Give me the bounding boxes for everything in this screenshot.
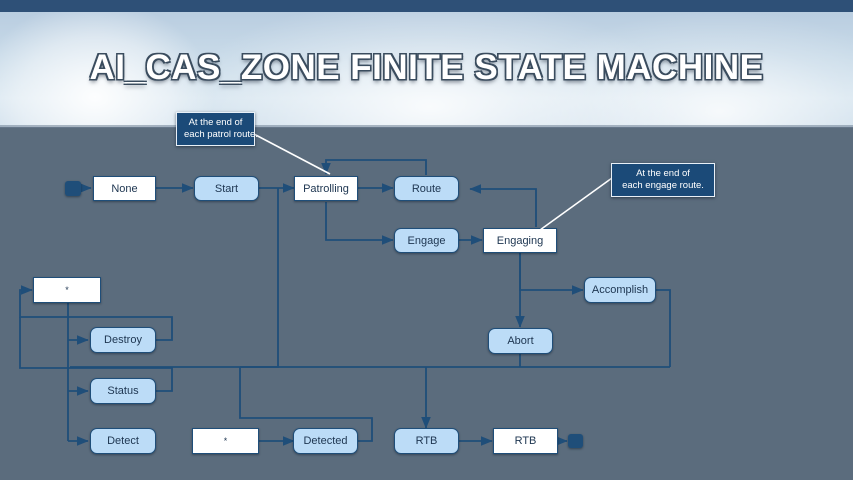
patrol-callout-line-1: At the end of (184, 117, 247, 129)
state-node-status[interactable]: Status (90, 378, 156, 404)
state-node-rtb-2[interactable]: RTB (493, 428, 558, 454)
engage-callout-line-2: each engage route. (619, 180, 707, 192)
state-node-wildcard-1[interactable]: * (33, 277, 101, 303)
state-node-destroy[interactable]: Destroy (90, 327, 156, 353)
state-node-route[interactable]: Route (394, 176, 459, 201)
engage-callout-line-1: At the end of (619, 168, 707, 180)
state-node-rtb-1[interactable]: RTB (394, 428, 459, 454)
state-node-none[interactable]: None (93, 176, 156, 201)
state-node-wildcard-2[interactable]: * (192, 428, 259, 454)
patrol-callout-line-2: each patrol route. (184, 129, 247, 141)
state-node-engage[interactable]: Engage (394, 228, 459, 253)
state-node-accomplish[interactable]: Accomplish (584, 277, 656, 303)
state-node-engaging[interactable]: Engaging (483, 228, 557, 253)
state-node-detected[interactable]: Detected (293, 428, 358, 454)
slide-canvas: AI_CAS_ZONE FINITE STATE MACHINE (0, 0, 853, 480)
patrol-route-callout: At the end of each patrol route. (176, 112, 255, 146)
start-node-marker (65, 181, 81, 196)
state-node-start[interactable]: Start (194, 176, 259, 201)
end-node-marker (568, 434, 583, 448)
engage-route-callout: At the end of each engage route. (611, 163, 715, 197)
state-node-abort[interactable]: Abort (488, 328, 553, 354)
state-node-patrolling[interactable]: Patrolling (294, 176, 358, 201)
state-node-detect[interactable]: Detect (90, 428, 156, 454)
